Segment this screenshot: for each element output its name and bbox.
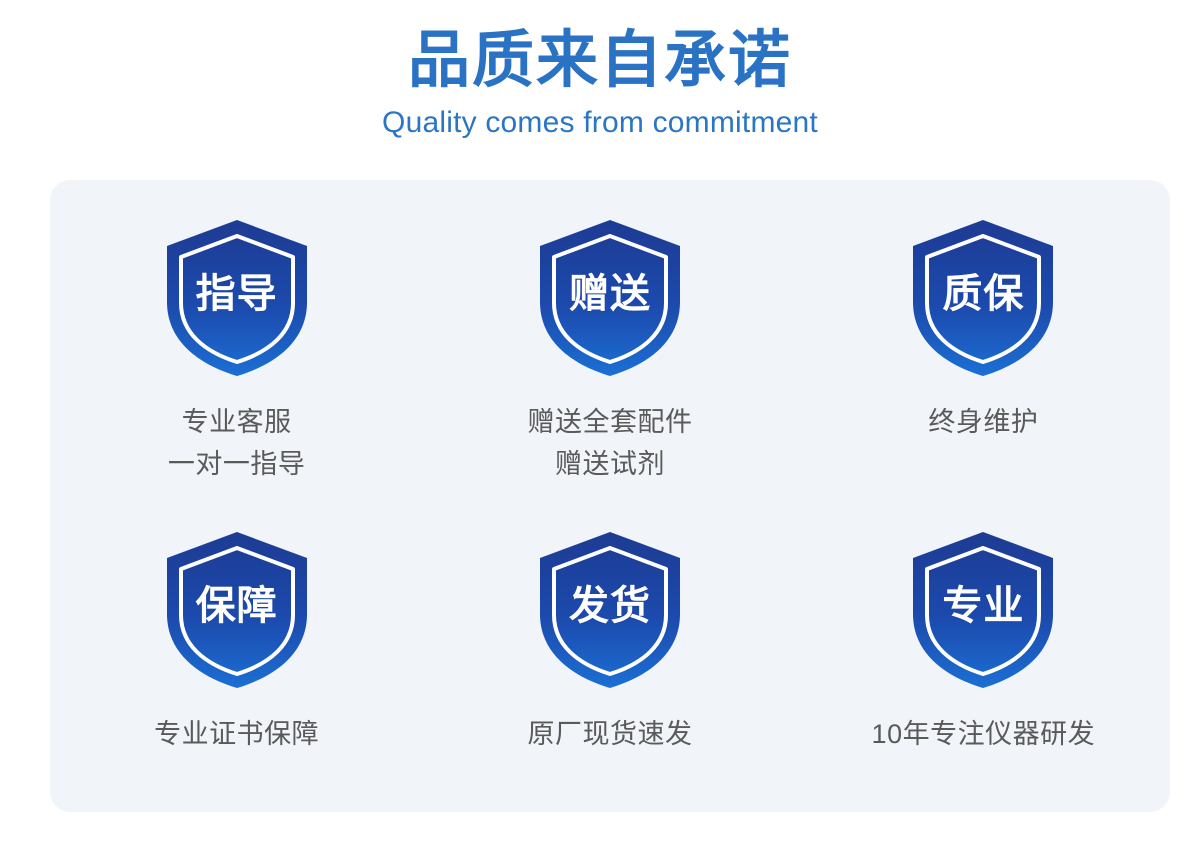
feature-caption-line1: 赠送全套配件 [527,402,692,444]
shield-icon: 发货 [534,528,686,692]
page-subtitle: Quality comes from commitment [0,105,1200,141]
feature-caption: 专业客服 一对一指导 [168,402,306,486]
feature-item-guidance[interactable]: 指导 专业客服 一对一指导 [50,180,423,486]
shield-icon: 指导 [161,216,313,380]
feature-caption-line1: 终身维护 [928,402,1038,444]
feature-caption-line2: 赠送试剂 [527,444,692,486]
features-grid: 指导 专业客服 一对一指导 [50,180,1170,812]
feature-caption-line1: 10年专注仪器研发 [872,714,1096,756]
feature-item-experience[interactable]: 专业 10年专注仪器研发 [797,496,1170,756]
shield-icon: 保障 [161,528,313,692]
promo-banner: 品质来自承诺 Quality comes from commitment [0,0,1200,845]
feature-item-certification[interactable]: 保障 专业证书保障 [50,496,423,756]
page-title: 品质来自承诺 [0,26,1200,95]
feature-caption: 原厂现货速发 [527,714,692,756]
shield-icon: 赠送 [534,216,686,380]
shield-badge-label: 保障 [161,528,313,692]
feature-caption: 专业证书保障 [154,714,319,756]
feature-caption: 10年专注仪器研发 [872,714,1096,756]
shield-badge-label: 指导 [161,216,313,380]
feature-caption-line2: 一对一指导 [168,444,306,486]
shield-badge-label: 赠送 [534,216,686,380]
feature-caption: 赠送全套配件 赠送试剂 [527,402,692,486]
feature-item-free-gift[interactable]: 赠送 赠送全套配件 赠送试剂 [423,180,796,486]
feature-caption: 终身维护 [928,402,1038,444]
shield-badge-label: 专业 [907,528,1059,692]
feature-caption-line1: 专业证书保障 [154,714,319,756]
header: 品质来自承诺 Quality comes from commitment [0,0,1200,141]
shield-badge-label: 质保 [907,216,1059,380]
shield-icon: 专业 [907,528,1059,692]
shield-badge-label: 发货 [534,528,686,692]
feature-item-shipping[interactable]: 发货 原厂现货速发 [423,496,796,756]
features-card: 指导 专业客服 一对一指导 [50,180,1170,812]
shield-icon: 质保 [907,216,1059,380]
feature-caption-line1: 原厂现货速发 [527,714,692,756]
feature-caption-line1: 专业客服 [168,402,306,444]
feature-item-warranty[interactable]: 质保 终身维护 [797,180,1170,444]
